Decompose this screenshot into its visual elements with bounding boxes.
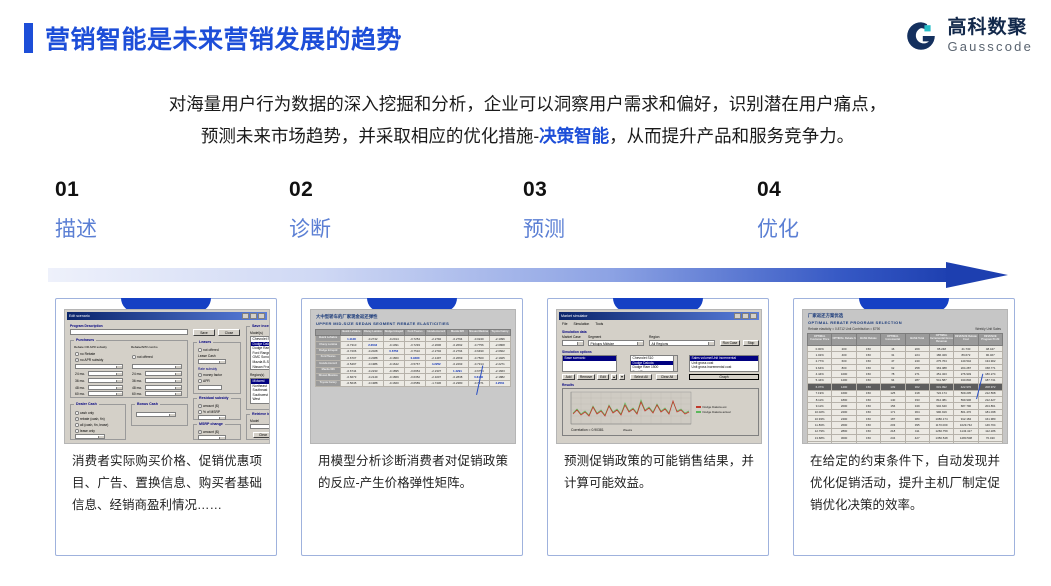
paragraph-line-2-post: ，从而提升产品和服务竞争力。 (609, 126, 854, 146)
group-residual-subsidy: Residual subsidy amount ($) % of MSRP (193, 398, 241, 420)
title-accent-bar (24, 23, 33, 53)
card-04-screenshot: 厂家返还方案优选 OPTIMAL REBATE PROGRAM SELECTIO… (802, 309, 1008, 444)
clear-button[interactable]: Clear (253, 432, 270, 438)
opt-cell: 3200 (832, 441, 856, 444)
card-03-caption: 预测促销政策的可能销售结果，并计算可能效益。 (548, 451, 770, 495)
market-case-select[interactable] (562, 340, 584, 346)
group-msrp-change: MSRP change amount ($) (193, 424, 241, 440)
group-bonus-cash: Bonus Cash (131, 404, 188, 426)
menu-tools[interactable]: Tools (595, 322, 603, 326)
move-up-button[interactable]: ▲ (611, 374, 617, 380)
close-button[interactable]: Close (218, 329, 240, 336)
matrix-cell: -0.1660 (383, 380, 404, 386)
legend-item-est: Dodge Dakota est (696, 405, 727, 409)
matrix-title-en: UPPER MID-SIZE SEDAN SEGMENT REBATE ELAS… (316, 321, 449, 326)
step-04-number: 04 (757, 178, 987, 202)
card-01-caption: 消费者实际购买价格、促销优惠项目、广告、置换信息、购买者基础信息、经销商盈利情况… (56, 451, 278, 517)
opt-cell: 29.438 (978, 441, 1002, 444)
step-03-number: 03 (523, 178, 753, 202)
stop-button[interactable]: Stop (743, 340, 759, 346)
region-select[interactable]: All Regions (649, 340, 715, 346)
legend-item-actual: Dodge Dakota actual (696, 410, 731, 414)
opt-cell: 1410.754 (954, 441, 978, 444)
program-description-input[interactable] (70, 329, 188, 335)
win-title-1: Edit scenario (69, 314, 90, 318)
menu-file[interactable]: File (562, 322, 567, 326)
step-04: 04 优化 (757, 178, 987, 243)
sim-options-list[interactable]: Base scenario (562, 355, 617, 372)
move-down-button[interactable]: ▼ (619, 374, 625, 380)
opt-cell: 150 (856, 441, 880, 444)
step-list: 01 描述 02 诊断 03 预测 04 优化 (55, 178, 1015, 248)
segment-select[interactable]: Pickups Midsize (588, 340, 644, 346)
opt-cell: 1440.292 (929, 441, 953, 444)
opt-col-header: BASE Rebate (856, 334, 880, 346)
step-01: 01 描述 (55, 178, 285, 243)
opt-cell: 442 (905, 441, 929, 444)
step-03: 03 预测 (523, 178, 753, 243)
opt-col-header: OPTIMAL Incremental (881, 334, 905, 346)
chart-xlabel: Weeks (623, 428, 632, 432)
step-02-number: 02 (289, 178, 519, 202)
model-listbox[interactable]: Chevrolet S10 Dodge Dakota Dodge Ram 150… (250, 336, 270, 370)
correlation-text: Correlation = 0.90381 (571, 428, 604, 432)
opt-title-en: OPTIMAL REBATE PROGRAM SELECTION (808, 320, 902, 325)
sim-output-list[interactable]: Sales volume/Unit incremental Unit gross… (689, 355, 759, 372)
opt-cell: 14.57% (808, 441, 832, 444)
opt-col-header: REVENUE Rebate Cost (954, 334, 978, 346)
slide: 营销智能是未来营销发展的趋势 高科数聚 Gausscode 对海量用户行为数据的… (0, 0, 1051, 586)
opt-cell: 249 (881, 441, 905, 444)
card-02-caption: 用模型分析诊断消费者对促销政策的反应-产生价格弹性矩阵。 (302, 451, 524, 495)
save-button[interactable]: Save (193, 329, 215, 336)
card-02-screenshot: 大中型轿车的厂家现金返还弹性 UPPER MID-SIZE SEDAN SEGM… (310, 309, 516, 444)
matrix-cell: -0.1988 (362, 380, 383, 386)
card-03-predict[interactable]: Market simulator File Simulation Tools S… (547, 298, 769, 556)
matrix-cell: -0.5645 (341, 380, 362, 386)
card-01-screenshot: Edit scenario Program Description Purcha… (64, 309, 270, 444)
card-list: Edit scenario Program Description Purcha… (55, 298, 1015, 560)
opt-col-header: REVENUE Program Profit (978, 334, 1002, 346)
title-text: 营销智能是未来营销发展的趋势 (45, 20, 402, 56)
optimization-table: OPTIMAL Customer PriceOPTIMAL Rebate $BA… (807, 333, 1003, 444)
edit-button[interactable]: Edit (597, 374, 609, 380)
opt-corner-note: Weekly Unit Sales (975, 327, 1001, 331)
card-02-diagnose[interactable]: 大中型轿车的厂家现金返还弹性 UPPER MID-SIZE SEDAN SEGM… (301, 298, 523, 556)
paragraph-highlight: 决策智能 (539, 126, 609, 146)
gausscode-logo-icon (904, 19, 938, 53)
step-01-number: 01 (55, 178, 285, 202)
opt-title-cn: 厂家返还方案优选 (808, 313, 843, 319)
intro-paragraph: 对海量用户行为数据的深入挖掘和分析，企业可以洞察用户需求和偏好，识别潜在用户痛点… (40, 88, 1015, 153)
win-title-3: Market simulator (561, 314, 588, 318)
card-01-describe[interactable]: Edit scenario Program Description Purcha… (55, 298, 277, 556)
progress-arrow (48, 262, 1010, 288)
region-listbox[interactable]: Midwest Northeast Southeast Southwest We… (250, 378, 270, 404)
group-purchases: Purchases Rebate OR APR subsidy Rebate/A… (70, 340, 188, 398)
card-04-caption: 在给定的约束条件下，自动发现并优化促销活动，提升主机厂制定促销优化决策的效率。 (794, 451, 1016, 517)
paragraph-line-2-pre: 预测未来市场趋势，并采取相应的优化措施- (201, 126, 539, 146)
sim-model-list[interactable]: Chevrolet S10 Dodge Dakota Dodge Ram 150… (630, 355, 678, 372)
opt-subtitle: Rebate elasticity = 0.8712 Unit Contribu… (808, 327, 880, 331)
select-all-button[interactable]: Select All (630, 374, 652, 380)
matrix-cell: -0.6589 (404, 380, 425, 386)
opt-col-header: OPTIMAL Rebate $ (832, 334, 856, 346)
brand-logo: 高科数聚 Gausscode (904, 18, 1033, 53)
group-leases: Leases not offered Lease Cash Rate subsi… (193, 342, 241, 394)
group-dealer-cash: Dealer Cash cash only rebate (cash, fin)… (70, 404, 126, 440)
card-03-screenshot: Market simulator File Simulation Tools S… (556, 309, 762, 444)
progress-arrow-bar (48, 268, 953, 282)
logo-text-en: Gausscode (947, 40, 1033, 53)
page-title: 营销智能是未来营销发展的趋势 (24, 20, 402, 56)
paragraph-line-1: 对海量用户行为数据的深入挖掘和分析，企业可以洞察用户需求和偏好，识别潜在用户痛点… (169, 94, 887, 114)
group-save-incentives: Save incentives Model(s) Chevrolet S10 D… (246, 326, 270, 410)
run-case-button[interactable]: Run Case (720, 340, 740, 346)
group-program-description: Program Description (70, 324, 103, 328)
opt-col-header: OPTIMAL Customer Price (808, 334, 832, 346)
clear-all-button[interactable]: Clear All (656, 374, 678, 380)
opt-col-header: BASE Total (905, 334, 929, 346)
menu-simulation[interactable]: Simulation (573, 322, 589, 326)
matrix-title-cn: 大中型轿车的厂家现金返还弹性 (316, 314, 377, 320)
step-01-label: 描述 (55, 213, 285, 243)
add-button[interactable]: Add (562, 374, 575, 380)
slide-header: 营销智能是未来营销发展的趋势 高科数聚 Gausscode (0, 0, 1051, 72)
graph-button[interactable]: Graph (689, 374, 759, 380)
group-retrieve-incentives: Retrieve incentives Model Region Clear R… (246, 414, 270, 440)
progress-arrow-head (946, 262, 1008, 288)
step-02-label: 诊断 (289, 213, 519, 243)
table-row: 14.57%32001502494421440.2921410.75429.43… (808, 441, 1003, 444)
matrix-cell: -0.2380 (447, 380, 468, 386)
step-03-label: 预测 (523, 213, 753, 243)
step-02: 02 诊断 (289, 178, 519, 243)
logo-text-cn: 高科数聚 (947, 18, 1033, 37)
remove-button[interactable]: Remove (577, 374, 595, 380)
opt-col-header: OPTIMAL Incremental Gross Revenue (929, 334, 953, 346)
step-04-label: 优化 (757, 213, 987, 243)
matrix-cell: -1.7436 (426, 380, 447, 386)
card-04-optimize[interactable]: 厂家返还方案优选 OPTIMAL REBATE PROGRAM SELECTIO… (793, 298, 1015, 556)
